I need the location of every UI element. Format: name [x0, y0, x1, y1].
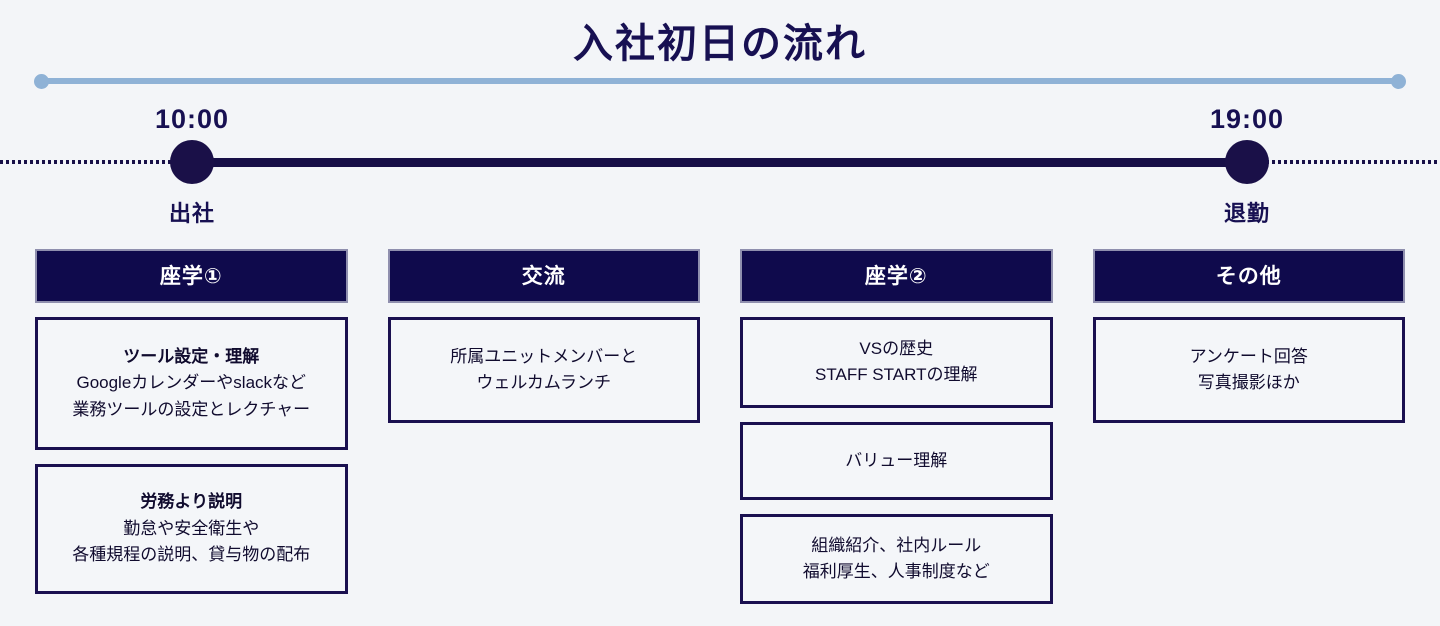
timeline-start-time: 10:00: [92, 104, 292, 135]
card-line: 業務ツールの設定とレクチャー: [48, 397, 335, 423]
card: 組織紹介、社内ルール 福利厚生、人事制度など: [740, 514, 1053, 605]
card: VSの歴史 STAFF STARTの理解: [740, 317, 1053, 408]
column-kouryuu: 交流 所属ユニットメンバーと ウェルカムランチ: [388, 249, 701, 604]
card-line: 福利厚生、人事制度など: [753, 559, 1040, 585]
card: バリュー理解: [740, 422, 1053, 500]
card-line: 組織紹介、社内ルール: [753, 533, 1040, 559]
column-zagaku-1: 座学① ツール設定・理解 Googleカレンダーやslackなど 業務ツールの設…: [35, 249, 348, 604]
card-line: STAFF STARTの理解: [753, 362, 1040, 388]
column-sonota: その他 アンケート回答 写真撮影ほか: [1093, 249, 1406, 604]
timeline-end-time: 19:00: [1147, 104, 1347, 135]
rule-cap-right-icon: [1391, 74, 1406, 89]
card: 所属ユニットメンバーと ウェルカムランチ: [388, 317, 701, 423]
page-title-wrapper: 入社初日の流れ: [0, 0, 1440, 66]
card: ツール設定・理解 Googleカレンダーやslackなど 業務ツールの設定とレク…: [35, 317, 348, 450]
card-line: 労務より説明: [48, 489, 335, 515]
column-header: 交流: [388, 249, 701, 303]
card-line: アンケート回答: [1106, 344, 1393, 370]
card: アンケート回答 写真撮影ほか: [1093, 317, 1406, 423]
card-line: バリュー理解: [753, 448, 1040, 474]
card-line: 各種規程の説明、貸与物の配布: [48, 542, 335, 568]
rule-cap-left-icon: [34, 74, 49, 89]
columns-container: 座学① ツール設定・理解 Googleカレンダーやslackなど 業務ツールの設…: [35, 249, 1405, 604]
card-line: Googleカレンダーやslackなど: [48, 370, 335, 396]
column-header: 座学①: [35, 249, 348, 303]
page-title: 入社初日の流れ: [0, 22, 1440, 66]
card-line: 勤怠や安全衛生や: [48, 516, 335, 542]
card-line: 写真撮影ほか: [1106, 370, 1393, 396]
column-header: その他: [1093, 249, 1406, 303]
timeline-end-node-icon: [1225, 140, 1269, 184]
timeline-active-bar: [192, 158, 1247, 167]
timeline-end-label: 退勤: [1147, 196, 1347, 228]
card-line: ツール設定・理解: [48, 344, 335, 370]
column-header: 座学②: [740, 249, 1053, 303]
timeline-start-node-icon: [170, 140, 214, 184]
card-line: 所属ユニットメンバーと: [401, 344, 688, 370]
column-zagaku-2: 座学② VSの歴史 STAFF STARTの理解 バリュー理解 組織紹介、社内ル…: [740, 249, 1053, 604]
decorative-blue-rule: [38, 78, 1402, 84]
timeline-start-label: 出社: [92, 196, 292, 228]
card-line: ウェルカムランチ: [401, 370, 688, 396]
timeline: 10:00 出社 19:00 退勤: [0, 104, 1440, 234]
card-line: VSの歴史: [753, 336, 1040, 362]
card: 労務より説明 勤怠や安全衛生や 各種規程の説明、貸与物の配布: [35, 464, 348, 594]
